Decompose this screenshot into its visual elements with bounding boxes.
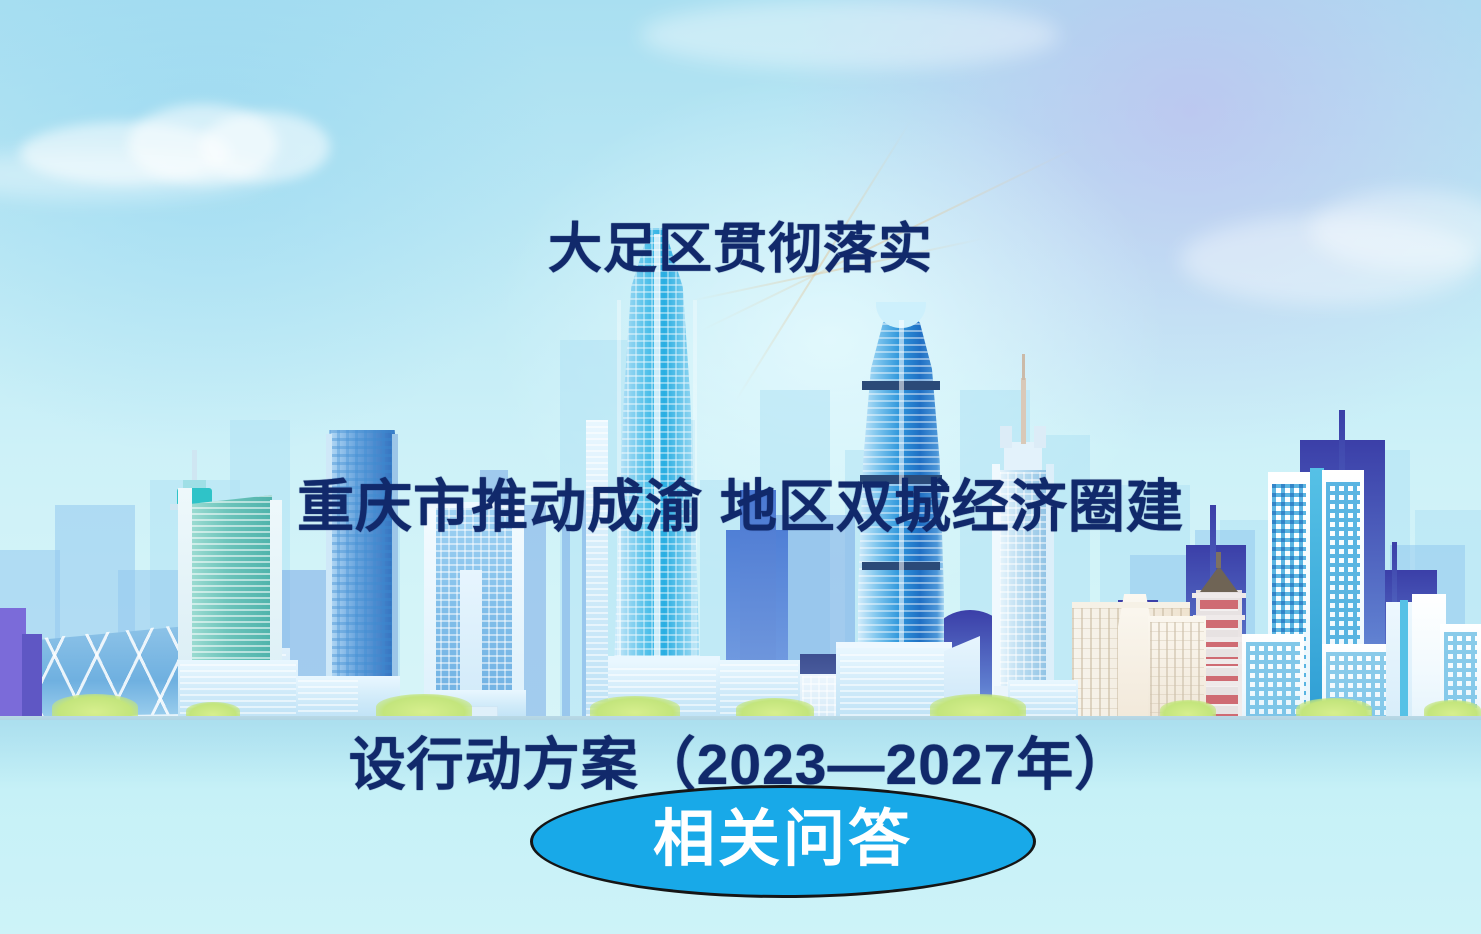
title-line-2: 重庆市推动成渝 地区双城经济圈建 <box>0 464 1481 550</box>
title-line-1: 大足区贯彻落实 <box>0 206 1481 292</box>
related-qa-button[interactable]: 相关问答 <box>530 785 1036 898</box>
poster-canvas: 大足区贯彻落实 重庆市推动成渝 地区双城经济圈建 设行动方案（2023—2027… <box>0 0 1481 934</box>
related-qa-button-label: 相关问答 <box>653 809 913 871</box>
